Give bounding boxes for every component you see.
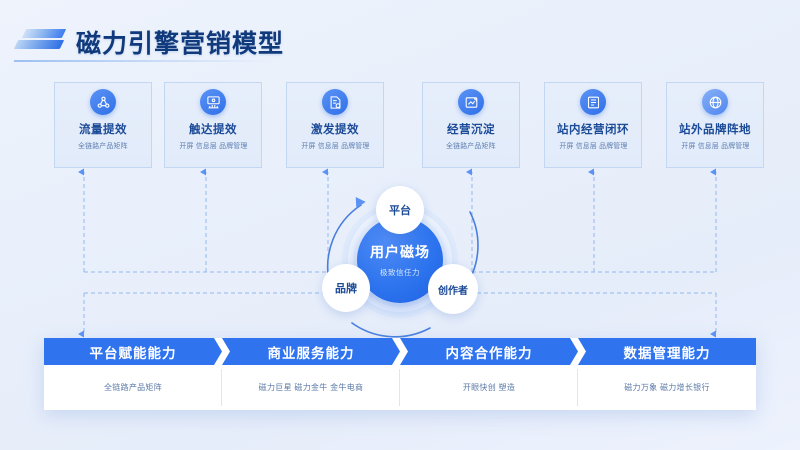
chevron-right-icon [392, 338, 408, 365]
card-title: 触达提效 [189, 121, 237, 137]
core-subtitle: 极致信任力 [380, 267, 420, 278]
ability-detail-business: 磁力巨星 磁力金牛 金牛电商 [222, 365, 400, 410]
page-title: 磁力引擎营销模型 [76, 24, 284, 60]
ability-detail-data: 磁力万象 磁力增长银行 [578, 365, 756, 410]
card-subtitle: 开屏 信息层 品牌管理 [681, 141, 749, 151]
chevron-right-icon [570, 338, 586, 365]
ability-tab-business[interactable]: 商业服务能力 [222, 338, 400, 365]
card-title: 激发提效 [311, 121, 359, 137]
ability-detail-row: 全链路产品矩阵 磁力巨星 磁力金牛 金牛电商 开眼快创 塑造 磁力万象 磁力增长… [44, 365, 756, 410]
network-nodes-icon [90, 89, 116, 115]
ability-detail: 磁力万象 磁力增长银行 [624, 382, 710, 393]
globe-icon [702, 89, 728, 115]
audience-reach-icon [200, 89, 226, 115]
card-subtitle: 开屏 信息层 品牌管理 [179, 141, 247, 151]
ability-detail-platform: 全链路产品矩阵 [44, 365, 222, 410]
image-growth-icon [458, 89, 484, 115]
ability-tab-content[interactable]: 内容合作能力 [400, 338, 578, 365]
ability-title: 平台赋能能力 [90, 342, 177, 362]
card-title: 站内经营闭环 [557, 121, 629, 137]
ability-detail: 开眼快创 塑造 [463, 382, 515, 393]
ability-title: 内容合作能力 [446, 342, 533, 362]
ability-tab-data[interactable]: 数据管理能力 [578, 338, 756, 365]
capability-card-row: 流量提效 全链路产品矩阵 触达提效 开屏 信息层 品牌管理 [0, 82, 800, 168]
ability-title: 数据管理能力 [624, 342, 711, 362]
chevron-right-icon [214, 338, 230, 365]
ability-title: 商业服务能力 [268, 342, 355, 362]
card-jifa-tixiao[interactable]: 激发提效 开屏 信息层 品牌管理 [286, 82, 384, 168]
card-title: 站外品牌阵地 [679, 121, 751, 137]
card-subtitle: 全链路产品矩阵 [78, 141, 128, 151]
node-platform[interactable]: 平台 [376, 186, 424, 234]
poster-header: 磁力引擎营销模型 [14, 24, 284, 60]
ability-detail-content: 开眼快创 塑造 [400, 365, 578, 410]
ability-detail: 全链路产品矩阵 [104, 382, 162, 393]
ability-panel: 平台赋能能力 商业服务能力 内容合作能力 数据管理能力 [44, 338, 756, 410]
node-brand[interactable]: 品牌 [322, 264, 370, 312]
core-title: 用户磁场 [370, 242, 430, 262]
card-zhannei-bihuan[interactable]: 站内经营闭环 开屏 信息层 品牌管理 [544, 82, 642, 168]
card-subtitle: 全链路产品矩阵 [446, 141, 496, 151]
ability-tab-platform[interactable]: 平台赋能能力 [44, 338, 222, 365]
card-title: 经营沉淀 [447, 121, 495, 137]
card-subtitle: 开屏 信息层 品牌管理 [301, 141, 369, 151]
ability-detail: 磁力巨星 磁力金牛 金牛电商 [259, 382, 364, 393]
user-magnet-diagram: 用户磁场 极致信任力 平台 创作者 品牌 [320, 186, 480, 328]
card-jingying-chendian[interactable]: 经营沉淀 全链路产品矩阵 [422, 82, 520, 168]
card-title: 流量提效 [79, 121, 127, 137]
card-chuda-tixiao[interactable]: 触达提效 开屏 信息层 品牌管理 [164, 82, 262, 168]
poster-canvas: 磁力引擎营销模型 [0, 0, 800, 450]
card-zhanwai-zhendi[interactable]: 站外品牌阵地 开屏 信息层 品牌管理 [666, 82, 764, 168]
card-liuliang-tixiao[interactable]: 流量提效 全链路产品矩阵 [54, 82, 152, 168]
card-subtitle: 开屏 信息层 品牌管理 [559, 141, 627, 151]
list-panel-icon [580, 89, 606, 115]
document-spark-icon [322, 89, 348, 115]
title-underline [14, 60, 274, 62]
speed-parallelogram-logo-icon [14, 27, 66, 57]
ability-header-bar: 平台赋能能力 商业服务能力 内容合作能力 数据管理能力 [44, 338, 756, 365]
node-creator[interactable]: 创作者 [428, 264, 478, 314]
